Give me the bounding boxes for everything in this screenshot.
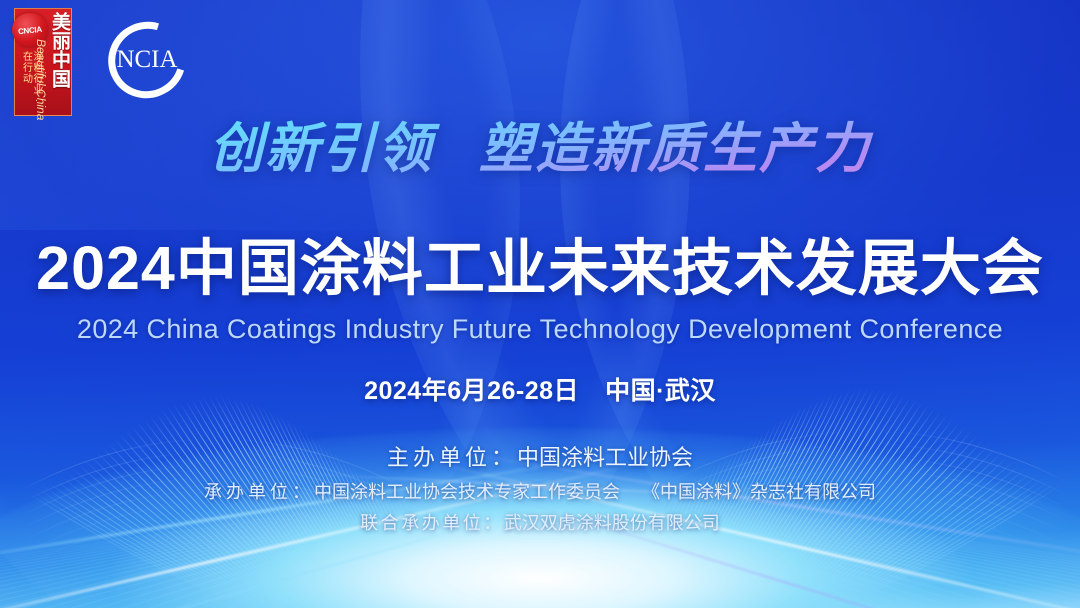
- organizer-row-undertaker: 承办单位：中国涂料工业协会技术专家工作委员会《中国涂料》杂志社有限公司: [0, 478, 1080, 504]
- ncia-letters: NCIA: [108, 46, 186, 74]
- slogan-part-2: 塑造新质生产力: [479, 119, 871, 179]
- slogan-part-1: 创新引领: [209, 119, 433, 179]
- cncia-main-text: 美丽中国: [45, 12, 69, 88]
- organizer-value-undertaker: 中国涂料工业协会技术专家工作委员会: [314, 482, 620, 502]
- organizer-row-host: 主办单位：中国涂料工业协会: [0, 440, 1080, 472]
- organizer-value-co-undertaker: 武汉双虎涂料股份有限公司: [504, 513, 720, 533]
- organizer-label-undertaker: 承办单位：: [204, 482, 314, 502]
- poster-slogan: 创新引领塑造新质生产力: [0, 104, 1080, 183]
- cncia-seal-label: CNCIA: [18, 24, 43, 35]
- organizer-label-host: 主办单位：: [387, 445, 517, 470]
- cncia-beautiful-china-logo: CNCIA 美丽中国 Beautiful China 涂料行业·在行动: [14, 8, 72, 116]
- page-subtitle: 2024 China Coatings Industry Future Tech…: [0, 314, 1080, 345]
- organizer-value-undertaker-2: 《中国涂料》杂志社有限公司: [642, 482, 876, 502]
- organizer-label-co-undertaker: 联合承办单位：: [360, 513, 504, 533]
- conference-poster: CNCIA 美丽中国 Beautiful China 涂料行业·在行动 NCIA…: [0, 0, 1080, 608]
- organizer-list: 主办单位：中国涂料工业协会 承办单位：中国涂料工业协会技术专家工作委员会《中国涂…: [0, 440, 1080, 535]
- ncia-logo: NCIA: [108, 22, 186, 98]
- page-title: 2024中国涂料工业未来技术发展大会: [0, 218, 1080, 307]
- organizer-row-co-undertaker: 联合承办单位：武汉双虎涂料股份有限公司: [0, 509, 1080, 535]
- organizer-value-host: 中国涂料工业协会: [517, 445, 693, 470]
